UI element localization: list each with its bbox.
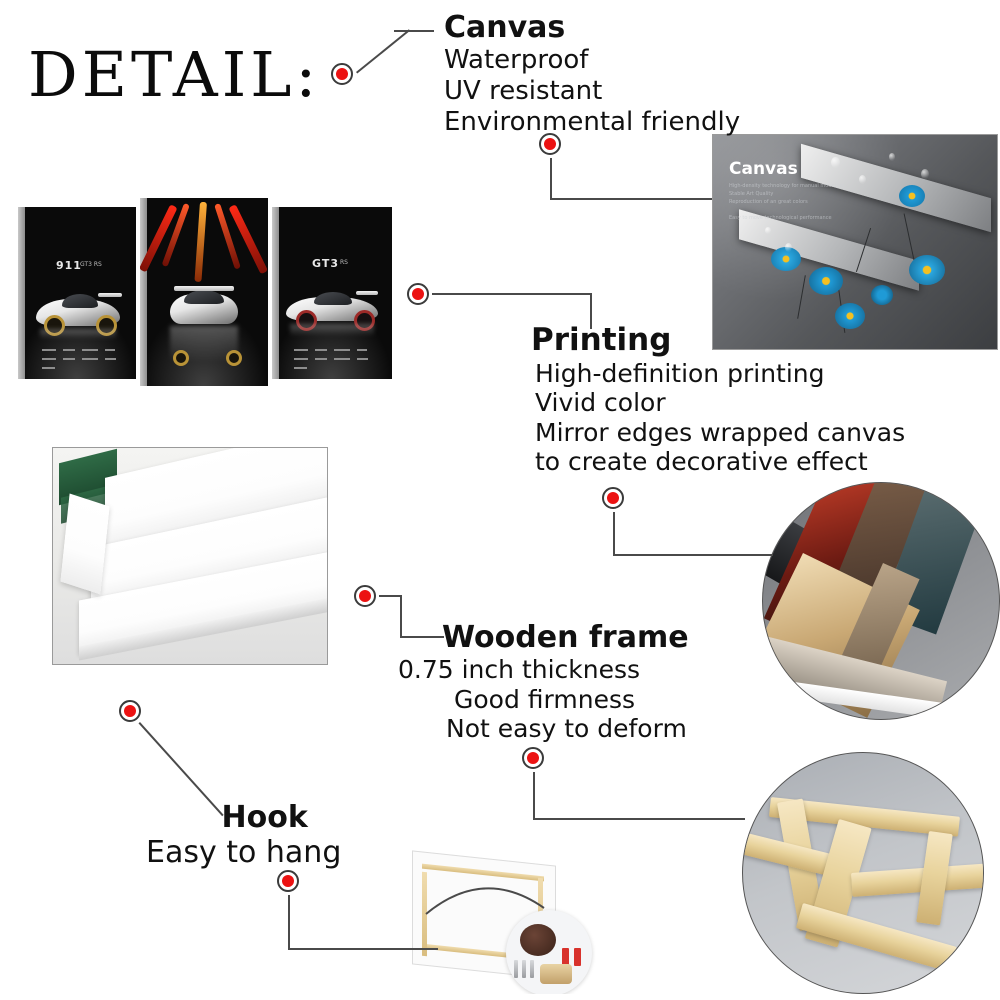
marker-dot-wooden-frame[interactable] xyxy=(354,585,376,607)
poster-subtitle-left: GT3 RS xyxy=(80,261,102,268)
callout-wooden-frame-line-1: 0.75 inch thickness xyxy=(398,655,689,685)
poster-panel-center xyxy=(140,198,268,386)
stretcher-bar xyxy=(851,863,984,897)
leader-line-canvas-photo-horizontal xyxy=(550,198,712,200)
poster-spec-left xyxy=(42,349,122,369)
leader-line-hookphoto-vertical xyxy=(288,895,290,950)
leader-line-woodcircle-horizontal xyxy=(533,818,745,820)
marker-dot-mirror-edges[interactable] xyxy=(602,487,624,509)
callout-canvas: Canvas Waterproof UV resistant Environme… xyxy=(444,10,740,137)
marker-dot-wood-circle[interactable] xyxy=(522,747,544,769)
marker-dot-printing[interactable] xyxy=(407,283,429,305)
infographic-canvas: DETAIL: 911 GT3 RS xyxy=(0,0,1000,1000)
car-reflection-right xyxy=(290,324,374,336)
image-blank-canvas-stack xyxy=(52,447,328,665)
screw xyxy=(530,960,534,978)
poster-title-right: GT3 xyxy=(312,257,339,270)
callout-canvas-line-2: UV resistant xyxy=(444,76,740,107)
canvas-sample-caption-2: Stable Art Quality xyxy=(729,191,773,197)
canvas-sample-caption-1: High-density technology for manual mount… xyxy=(729,183,844,189)
callout-printing-line-2: Vivid color xyxy=(531,388,905,418)
wood-block xyxy=(540,964,572,984)
hook-disc xyxy=(520,924,556,956)
callout-canvas-heading: Canvas xyxy=(444,10,740,45)
poster-panel-right: GT3 RS xyxy=(272,207,392,379)
callout-canvas-line-1: Waterproof xyxy=(444,45,740,76)
poster-title-left: 911 xyxy=(56,259,82,272)
callout-hook-line-1: Easy to hang xyxy=(146,835,341,870)
image-car-triptych: 911 GT3 RS xyxy=(16,198,394,386)
screw xyxy=(514,960,518,978)
canvas-sample-caption-4: Easy to move technological performance xyxy=(729,215,832,221)
water-droplet xyxy=(785,243,792,252)
leader-line-wood-horizontal-1 xyxy=(379,595,402,597)
car-wing-center xyxy=(174,286,234,291)
water-droplet xyxy=(859,175,866,184)
water-droplet xyxy=(831,157,840,168)
light-streak xyxy=(194,202,207,282)
poster-subtitle-right: RS xyxy=(340,259,348,266)
marker-dot-hook[interactable] xyxy=(119,700,141,722)
blue-flower xyxy=(871,285,893,305)
car-window-left xyxy=(62,294,98,308)
callout-printing-line-4: to create decorative effect xyxy=(531,447,905,477)
callout-wooden-frame-heading: Wooden frame xyxy=(398,620,689,655)
leader-line-canvas-photo-vertical xyxy=(550,158,552,200)
callout-hook-heading: Hook xyxy=(146,800,341,835)
wall-anchor xyxy=(574,948,581,966)
blue-flower xyxy=(909,255,945,285)
callout-printing-heading: Printing xyxy=(531,322,905,359)
callout-wooden-frame-line-2: Good firmness xyxy=(398,685,689,715)
marker-dot-hook-photo[interactable] xyxy=(277,870,299,892)
leader-line-mirror-horizontal xyxy=(613,554,773,556)
car-window-center xyxy=(184,290,224,304)
canvas-sample-label: Canvas xyxy=(729,159,798,179)
leader-line-hookphoto-horizontal xyxy=(288,948,438,950)
leader-line-mirror-vertical xyxy=(613,512,615,556)
blue-flower xyxy=(809,267,843,295)
callout-printing: Printing High-definition printing Vivid … xyxy=(531,322,905,477)
screw xyxy=(522,960,526,978)
callout-canvas-line-3: Environmental friendly xyxy=(444,107,740,138)
poster-spec-right xyxy=(294,349,378,369)
callout-printing-line-3: Mirror edges wrapped canvas xyxy=(531,418,905,448)
poster-panel-left: 911 GT3 RS xyxy=(18,207,136,379)
image-hook-kit xyxy=(388,848,606,994)
car-wheel-center-right xyxy=(226,350,242,366)
leader-line-canvas-diagonal xyxy=(356,29,410,73)
image-mirror-edges xyxy=(762,482,1000,720)
marker-dot-canvas[interactable] xyxy=(331,63,353,85)
callout-printing-line-1: High-definition printing xyxy=(531,359,905,389)
image-wood-frame xyxy=(742,752,984,994)
page-title: DETAIL: xyxy=(28,44,320,106)
canvas-sample-caption-3: Reproduction of an great colors xyxy=(729,199,808,205)
leader-line-woodcircle-vertical xyxy=(533,772,535,820)
callout-wooden-frame: Wooden frame 0.75 inch thickness Good fi… xyxy=(398,620,689,744)
flower-stem xyxy=(797,275,806,319)
blue-flower xyxy=(899,185,925,207)
leader-line-printing-horizontal xyxy=(432,293,592,295)
car-wing-left xyxy=(98,293,122,297)
water-droplet xyxy=(921,169,929,179)
leader-line-canvas-horizontal xyxy=(394,30,434,32)
hardware-inset xyxy=(506,910,592,994)
car-reflection-left xyxy=(40,329,116,339)
car-wing-right xyxy=(356,291,378,295)
water-droplet xyxy=(765,227,771,234)
car-wheel-center-left xyxy=(173,350,189,366)
image-canvas-sample: Canvas High-density technology for manua… xyxy=(712,134,998,350)
water-droplet xyxy=(889,153,895,161)
callout-hook: Hook Easy to hang xyxy=(146,800,341,871)
car-window-right xyxy=(314,292,352,305)
callout-wooden-frame-line-3: Not easy to deform xyxy=(398,714,689,744)
